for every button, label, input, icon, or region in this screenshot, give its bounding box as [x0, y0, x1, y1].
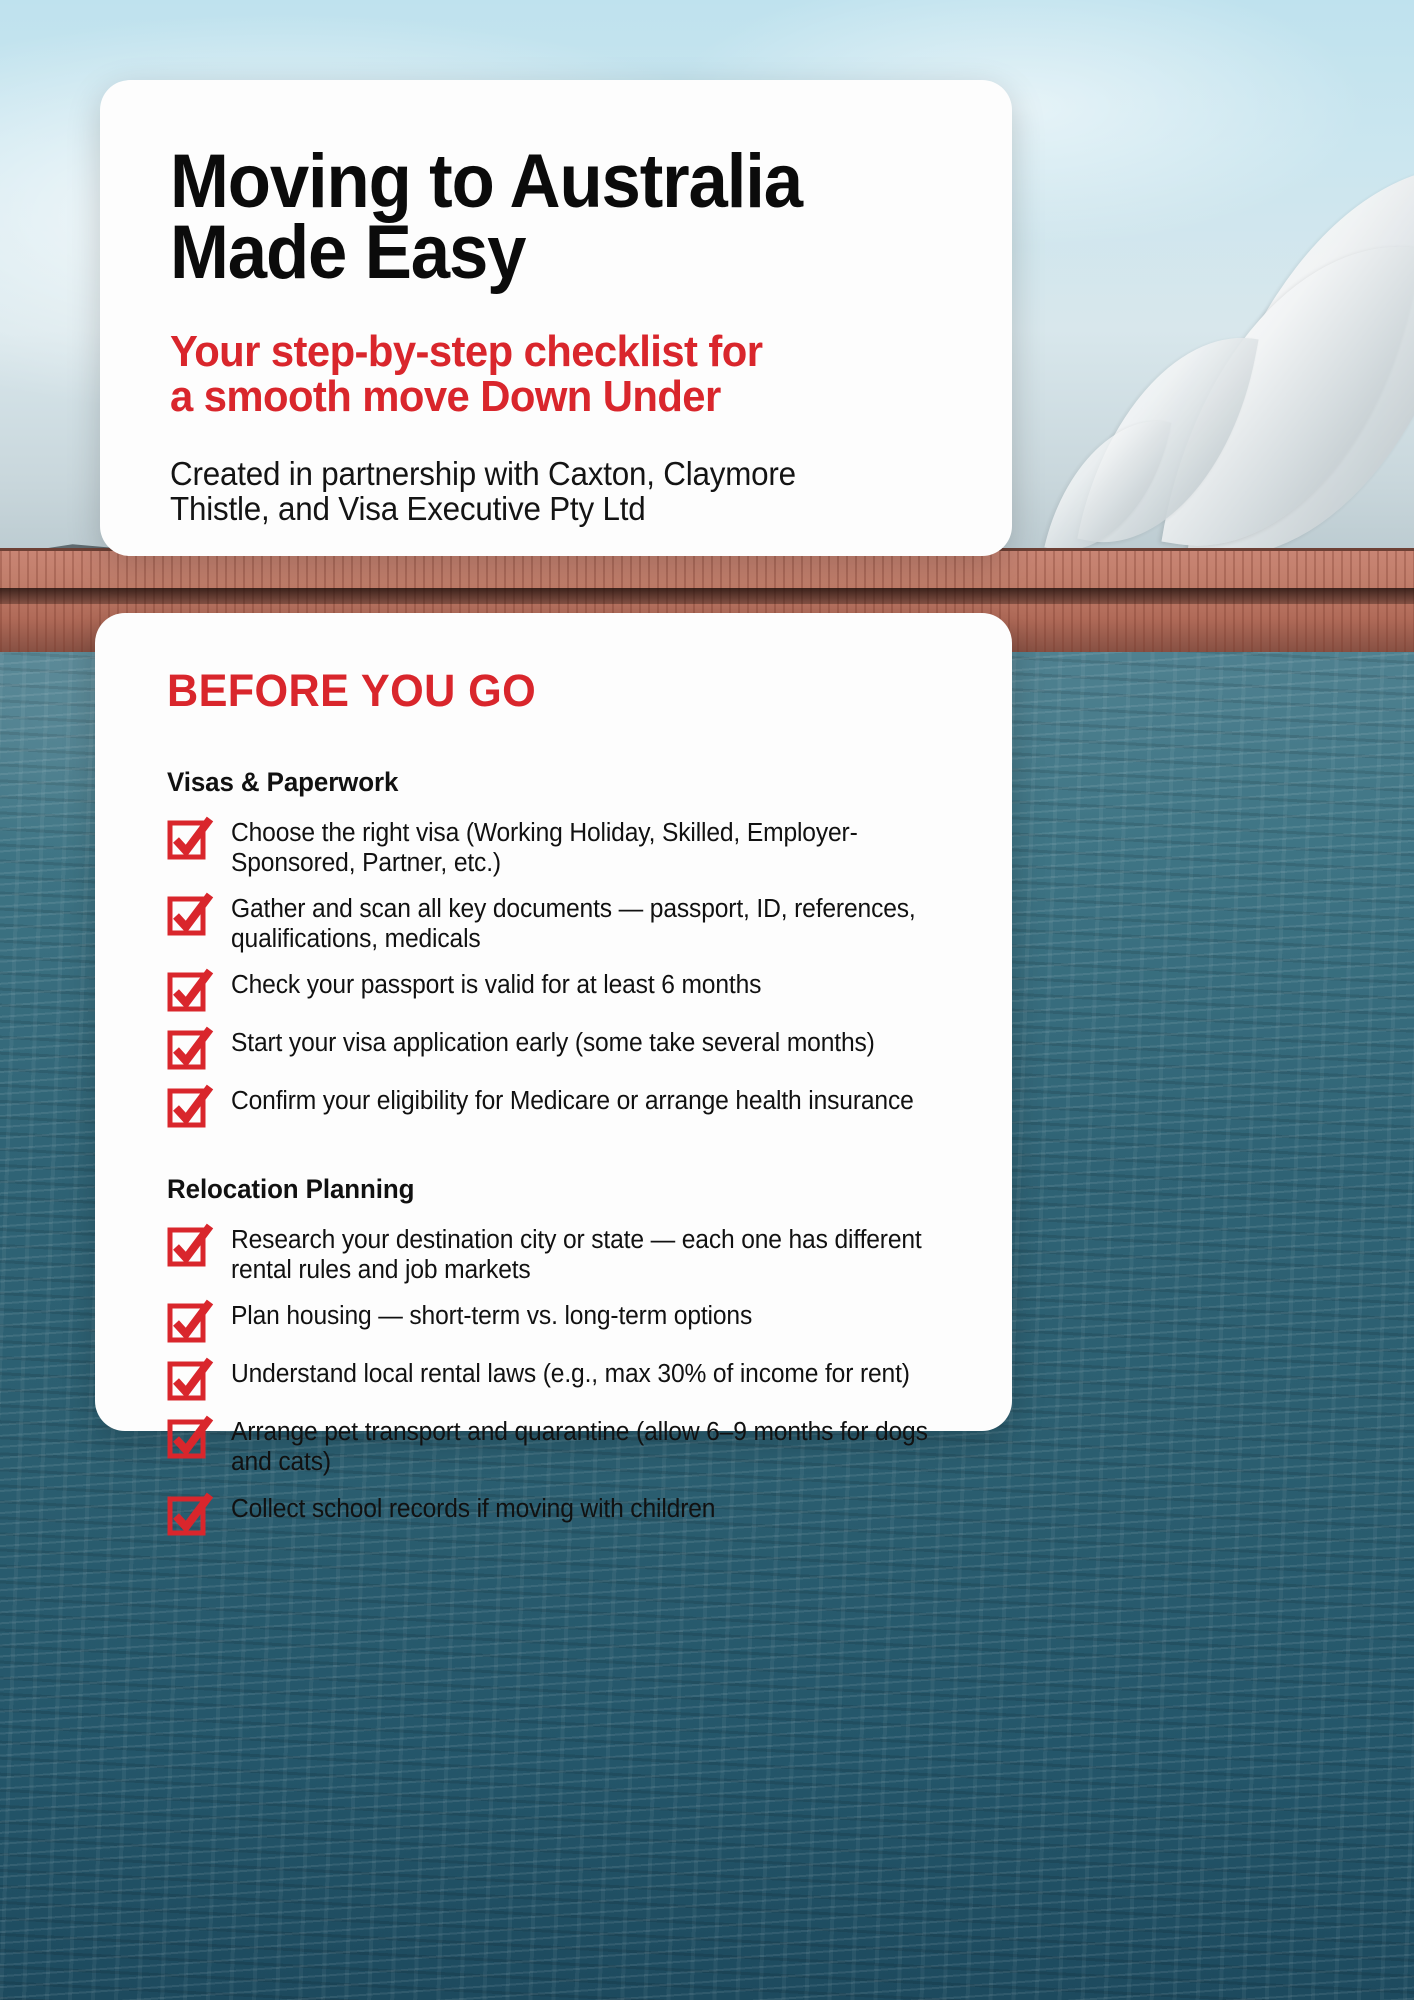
checklist-item[interactable]: Confirm your eligibility for Medicare or… [167, 1084, 956, 1128]
opera-house-silhouette [994, 110, 1414, 590]
checklist-item-label: Choose the right visa (Working Holiday, … [231, 816, 931, 878]
checklist-item-label: Check your passport is valid for at leas… [231, 968, 761, 1001]
checklist-item-label: Gather and scan all key documents — pass… [231, 892, 931, 954]
checklist-group-relocation-planning: Relocation Planning Research your destin… [167, 1174, 956, 1535]
checklist-item-label: Plan housing — short-term vs. long-term … [231, 1299, 752, 1332]
checklist-item[interactable]: Choose the right visa (Working Holiday, … [167, 816, 956, 878]
checked-checkbox-icon[interactable] [167, 1417, 215, 1459]
header-card: Moving to Australia Made Easy Your step-… [100, 80, 1012, 556]
checklist-item-label: Arrange pet transport and quarantine (al… [231, 1415, 931, 1477]
page-subtitle: Your step-by-step checklist for a smooth… [170, 329, 909, 420]
checklist-items: Choose the right visa (Working Holiday, … [167, 816, 956, 1128]
checked-checkbox-icon[interactable] [167, 1086, 215, 1128]
poster-canvas: Moving to Australia Made Easy Your step-… [0, 0, 1414, 2000]
checked-checkbox-icon[interactable] [167, 1301, 215, 1343]
checklist-item[interactable]: Understand local rental laws (e.g., max … [167, 1357, 956, 1401]
checked-checkbox-icon[interactable] [167, 1028, 215, 1070]
checklist-item-label: Understand local rental laws (e.g., max … [231, 1357, 910, 1390]
checked-checkbox-icon[interactable] [167, 818, 215, 860]
checklist-item[interactable]: Collect school records if moving with ch… [167, 1492, 956, 1536]
section-title: BEFORE YOU GO [167, 665, 924, 717]
checklist-group-visas-paperwork: Visas & Paperwork Choose the right visa … [167, 767, 956, 1128]
checklist-item[interactable]: Plan housing — short-term vs. long-term … [167, 1299, 956, 1343]
checked-checkbox-icon[interactable] [167, 1494, 215, 1536]
group-heading: Relocation Planning [167, 1174, 924, 1205]
wharf-shadow-band [0, 588, 1414, 604]
checked-checkbox-icon[interactable] [167, 894, 215, 936]
checked-checkbox-icon[interactable] [167, 1359, 215, 1401]
page-title: Moving to Australia Made Easy [170, 146, 894, 289]
checked-checkbox-icon[interactable] [167, 970, 215, 1012]
checklist-item-label: Start your visa application early (some … [231, 1026, 875, 1059]
partnership-credit: Created in partnership with Caxton, Clay… [170, 456, 909, 527]
group-heading: Visas & Paperwork [167, 767, 924, 798]
checklist-item[interactable]: Start your visa application early (some … [167, 1026, 956, 1070]
checklist-item[interactable]: Check your passport is valid for at leas… [167, 968, 956, 1012]
checklist-item[interactable]: Arrange pet transport and quarantine (al… [167, 1415, 956, 1477]
checklist-item-label: Collect school records if moving with ch… [231, 1492, 715, 1525]
checklist-card: BEFORE YOU GO Visas & Paperwork Choose t… [95, 613, 1012, 1431]
checklist-item-label: Confirm your eligibility for Medicare or… [231, 1084, 914, 1117]
checklist-items: Research your destination city or state … [167, 1223, 956, 1535]
checked-checkbox-icon[interactable] [167, 1225, 215, 1267]
checklist-item[interactable]: Gather and scan all key documents — pass… [167, 892, 956, 954]
checklist-item[interactable]: Research your destination city or state … [167, 1223, 956, 1285]
checklist-item-label: Research your destination city or state … [231, 1223, 931, 1285]
